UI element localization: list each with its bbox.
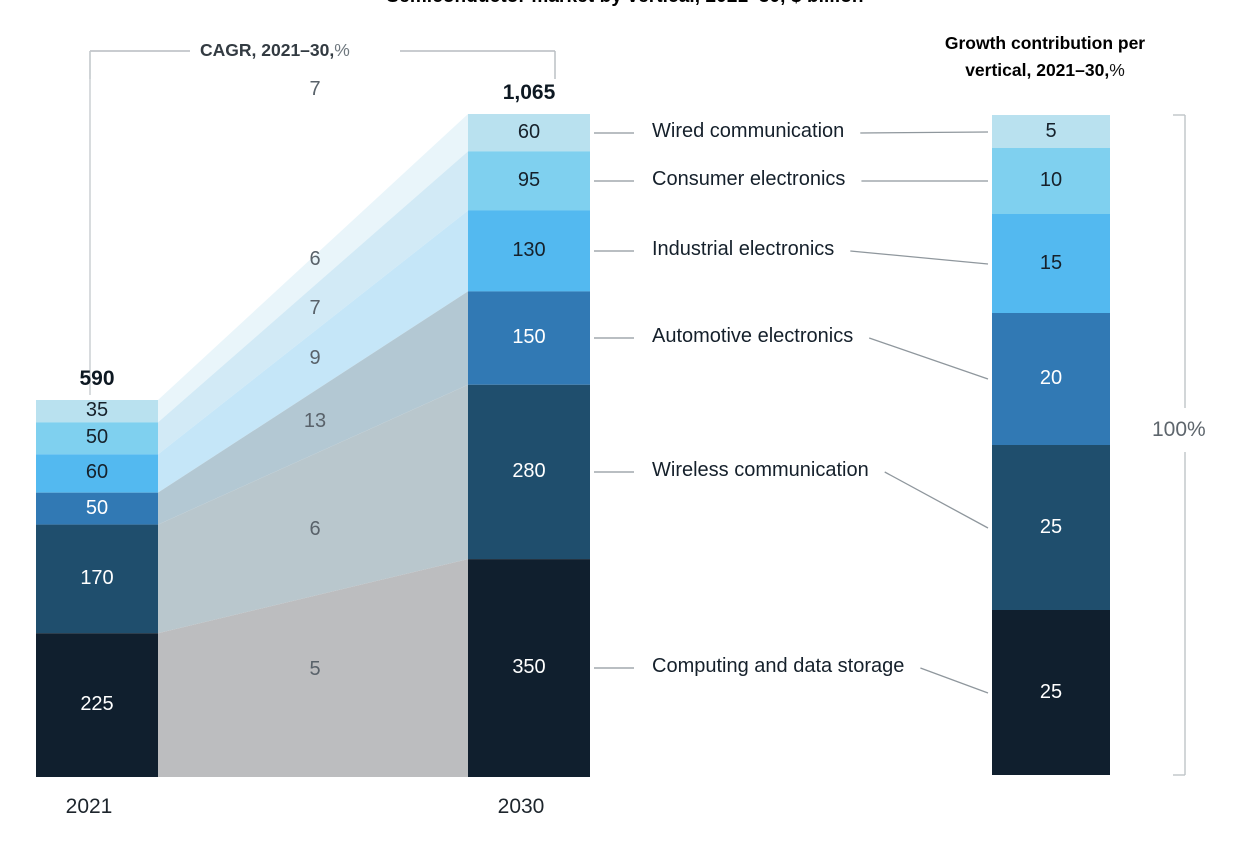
value-2030-1: 95 [468, 170, 590, 190]
category-label-0: Wired communication [652, 120, 844, 143]
value-2030-2: 130 [468, 240, 590, 260]
value-2030-0: 60 [468, 122, 590, 142]
category-label-5: Computing and data storage [652, 655, 904, 678]
leader-line-right [860, 132, 988, 133]
cagr-value-5: 5 [245, 658, 385, 681]
leader-line-right [869, 338, 988, 379]
value-growth-2: 15 [992, 253, 1110, 273]
leader-line-right [850, 251, 988, 264]
value-2021-1: 50 [36, 427, 158, 447]
value-growth-5: 25 [992, 682, 1110, 702]
value-2030-4: 280 [468, 461, 590, 481]
category-label-1: Consumer electronics [652, 168, 845, 191]
chart-canvas: Semiconductor market by vertical, 2021–3… [0, 0, 1250, 842]
cagr-value-4: 6 [245, 518, 385, 541]
value-2021-4: 170 [36, 568, 158, 588]
value-2021-2: 60 [36, 462, 158, 482]
category-label-3: Automotive electronics [652, 325, 853, 348]
cagr-value-1: 7 [245, 297, 385, 320]
total-2021-label: 590 [36, 367, 158, 391]
value-growth-0: 5 [992, 121, 1110, 141]
value-growth-1: 10 [992, 170, 1110, 190]
category-label-2: Industrial electronics [652, 238, 834, 261]
leader-line-right [920, 668, 988, 693]
value-2021-5: 225 [36, 694, 158, 714]
value-growth-4: 25 [992, 517, 1110, 537]
total-percent-label: 100% [1152, 418, 1206, 442]
cagr-value-2: 9 [245, 347, 385, 370]
value-growth-3: 20 [992, 368, 1110, 388]
axis-label-2030: 2030 [460, 795, 582, 819]
value-2030-3: 150 [468, 327, 590, 347]
cagr-value-3: 13 [245, 410, 385, 433]
value-2021-0: 35 [36, 400, 158, 420]
value-2030-5: 350 [468, 657, 590, 677]
cagr-total-value: 7 [245, 78, 385, 101]
cagr-value-0: 6 [245, 248, 385, 271]
category-label-4: Wireless communication [652, 459, 869, 482]
leader-line-right [885, 472, 988, 528]
total-2030-label: 1,065 [468, 81, 590, 105]
axis-label-2021: 2021 [28, 795, 150, 819]
value-2021-3: 50 [36, 498, 158, 518]
